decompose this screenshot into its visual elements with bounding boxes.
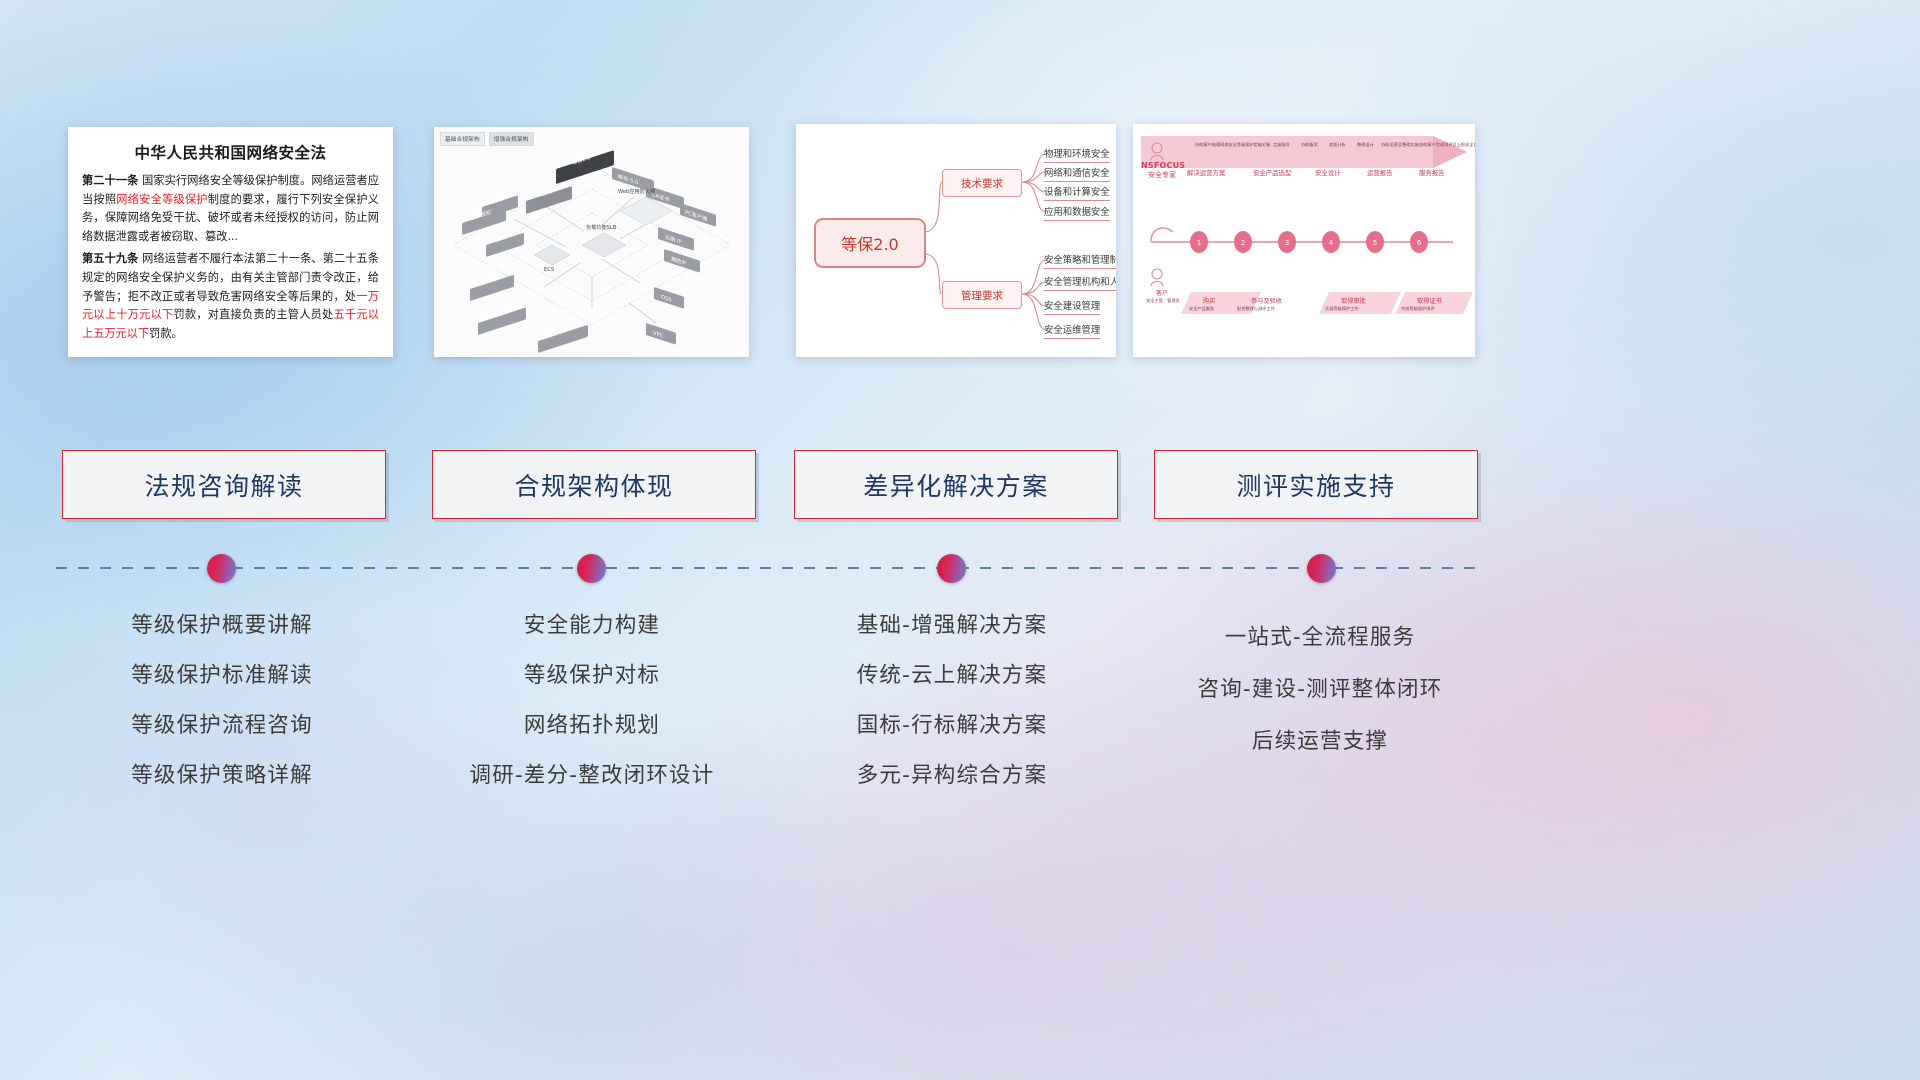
svg-text:3: 3 [1285, 239, 1289, 247]
image-card-row: 中华人民共和国网络安全法 第二十一条 国家实行网络安全等级保护制度。网络运营者应… [0, 0, 1920, 1080]
svg-text:负载均衡SLB: 负载均衡SLB [586, 223, 617, 231]
mindmap-leaf-mgmt-1: 安全策略和管理制度 [1044, 252, 1116, 269]
law-card-body: 中华人民共和国网络安全法 第二十一条 国家实行网络安全等级保护制度。网络运营者应… [68, 127, 393, 357]
roadmap-bottom-left-sub-2: 配合整改与测评工作 [1237, 306, 1275, 312]
architecture-svg: 增强2.0 安全管家 先知 态势感知 [434, 127, 749, 357]
tag-box-compliance-architecture[interactable]: 合规架构体现 [432, 450, 756, 519]
roadmap-top-label-6: 协助运营及整改实施 [1381, 142, 1419, 148]
roadmap-top-label-1: 协助客户梳理网络安全等级保护定级对象 [1195, 142, 1270, 148]
detail-item: 等级保护流程咨询 [42, 708, 402, 739]
tag-label-0: 法规咨询解读 [144, 467, 303, 503]
law-title: 中华人民共和国网络安全法 [82, 141, 379, 163]
mindmap-leaf-mgmt-3: 安全建设管理 [1044, 298, 1100, 315]
roadmap-top-label-2: 定级指导 [1273, 142, 1290, 148]
roadmap-persona-label: 客户 [1141, 288, 1183, 297]
roadmap-stage-5: 服务报告 [1419, 168, 1445, 177]
law-article-21-highlight: 网络安全等级保护 [116, 193, 207, 206]
mindmap-branch-management: 管理要求 [942, 281, 1022, 309]
svg-text:2: 2 [1241, 239, 1245, 247]
timeline-dot-2[interactable] [937, 554, 966, 583]
mindmap-leaf-tech-2: 网络和通信安全 [1044, 165, 1110, 182]
detail-item: 调研-差分-整改闭环设计 [412, 758, 772, 789]
roadmap-brand: NSFOCUS [1141, 161, 1183, 170]
mindmap-leaf-mgmt-4: 安全运维管理 [1044, 322, 1100, 339]
detail-item: 等级保护标准解读 [42, 658, 402, 689]
roadmap-bottom-left-2: 参与及验收 [1251, 296, 1282, 305]
mindmap: 等保2.0 技术要求 管理要求 物理和环境安全 网络和通信安全 设备和计算安全 … [796, 124, 1116, 357]
roadmap-top-label-4: 差距分析 [1329, 142, 1346, 148]
roadmap-stage-4: 运营报告 [1367, 168, 1393, 177]
svg-text:4: 4 [1329, 239, 1334, 247]
roadmap-diagram: 123 456 NSFOCUS 安全专家 协助客户梳理网络安全等级保护定级对象 … [1133, 124, 1475, 357]
roadmap-stage-1: 解决运营方案 [1187, 168, 1225, 177]
law-article-59-text-3: 罚款。 [149, 327, 183, 340]
card-mindmap-dengbao[interactable]: 等保2.0 技术要求 管理要求 物理和环境安全 网络和通信安全 设备和计算安全 … [796, 124, 1116, 357]
card-cybersecurity-law[interactable]: 中华人民共和国网络安全法 第二十一条 国家实行网络安全等级保护制度。网络运营者应… [68, 127, 393, 357]
mindmap-leaf-tech-3: 设备和计算安全 [1044, 184, 1110, 201]
roadmap-brand-sub: 安全专家 [1141, 170, 1183, 180]
tag-label-2: 差异化解决方案 [863, 467, 1049, 503]
timeline-dot-1[interactable] [577, 554, 606, 583]
detail-item: 等级保护策略详解 [42, 758, 402, 789]
detail-item: 安全能力构建 [412, 608, 772, 639]
tag-box-differentiated-solution[interactable]: 差异化解决方案 [794, 450, 1118, 519]
roadmap-bottom-left-1: 购买 [1203, 296, 1215, 305]
detail-column-0: 等级保护概要讲解 等级保护标准解读 等级保护流程咨询 等级保护策略详解 [42, 608, 402, 808]
detail-item: 等级保护对标 [412, 658, 772, 689]
detail-item: 等级保护概要讲解 [42, 608, 402, 639]
detail-item: 基础-增强解决方案 [772, 608, 1132, 639]
timeline-dot-0[interactable] [207, 554, 236, 583]
svg-text:1: 1 [1197, 239, 1201, 247]
roadmap-stage-2: 安全产品选型 [1253, 168, 1291, 177]
detail-item: 多元-异构综合方案 [772, 758, 1132, 789]
mindmap-leaf-tech-1: 物理和环境安全 [1044, 146, 1110, 163]
roadmap-bottom-right-2: 取得证书 [1417, 296, 1442, 305]
roadmap-top-label-3: 协助备案 [1301, 142, 1318, 148]
svg-text:Web应用防火墙: Web应用防火墙 [618, 187, 655, 195]
detail-item: 后续运营支撑 [1140, 724, 1500, 755]
svg-text:5: 5 [1373, 239, 1377, 247]
detail-item: 咨询-建设-测评整体闭环 [1140, 672, 1500, 703]
mindmap-leaf-mgmt-2: 安全管理机构和人员 [1044, 274, 1116, 291]
mindmap-leaf-tech-4: 应用和数据安全 [1044, 204, 1110, 221]
law-article-59-text-2: 罚款，对直接负责的主管人员处 [173, 308, 333, 321]
timeline-dashed-line [56, 567, 1480, 569]
roadmap-bottom-right-1: 取得审批 [1341, 296, 1366, 305]
roadmap-bottom-right-sub-2: 完成等级保护测评 [1401, 306, 1435, 312]
tag-box-regulation-consulting[interactable]: 法规咨询解读 [62, 450, 386, 519]
card-compliance-architecture[interactable]: 基础合规架构 增强合规架构 增强2.0 [434, 127, 749, 357]
detail-item: 国标-行标解决方案 [772, 708, 1132, 739]
timeline-dot-3[interactable] [1307, 554, 1336, 583]
detail-item: 一站式-全流程服务 [1140, 620, 1500, 651]
detail-item: 传统-云上解决方案 [772, 658, 1132, 689]
roadmap-stage-3: 安全设计 [1315, 168, 1341, 177]
law-article-59: 第五十九条 网络运营者不履行本法第二十一条、第二十五条规定的网络安全保护义务的，… [82, 250, 379, 343]
card-service-roadmap[interactable]: 123 456 NSFOCUS 安全专家 协助客户梳理网络安全等级保护定级对象 … [1133, 124, 1475, 357]
roadmap-top-label-5: 整改设计 [1357, 142, 1374, 148]
detail-column-2: 基础-增强解决方案 传统-云上解决方案 国标-行标解决方案 多元-异构综合方案 [772, 608, 1132, 808]
tag-label-1: 合规架构体现 [514, 467, 673, 503]
law-article-21: 第二十一条 国家实行网络安全等级保护制度。网络运营者应当按照网络安全等级保护制度… [82, 172, 379, 246]
law-article-21-label: 第二十一条 [82, 174, 138, 187]
detail-item: 网络拓扑规划 [412, 708, 772, 739]
law-article-59-label: 第五十九条 [82, 252, 138, 265]
roadmap-bottom-right-sub-1: 开展等级保护工作 [1325, 306, 1359, 312]
roadmap-svg: 123 456 [1133, 124, 1475, 357]
svg-text:ECS: ECS [544, 267, 554, 273]
tag-label-3: 测评实施支持 [1236, 467, 1395, 503]
detail-column-1: 安全能力构建 等级保护对标 网络拓扑规划 调研-差分-整改闭环设计 [412, 608, 772, 808]
roadmap-bottom-left-sub-1: 安全产品服务 [1189, 306, 1214, 312]
svg-text:6: 6 [1417, 239, 1422, 247]
roadmap-top-label-7: 协助客户完成测评及上报安全监管机构 [1419, 142, 1475, 148]
roadmap-persona-sub: 安全主管／管理员 [1137, 298, 1189, 304]
mindmap-root-node: 等保2.0 [814, 218, 926, 268]
tag-box-assessment-support[interactable]: 测评实施支持 [1154, 450, 1478, 519]
detail-column-3: 一站式-全流程服务 咨询-建设-测评整体闭环 后续运营支撑 [1140, 620, 1500, 776]
mindmap-branch-technical: 技术要求 [942, 169, 1022, 197]
architecture-diagram: 基础合规架构 增强合规架构 增强2.0 [434, 127, 749, 357]
